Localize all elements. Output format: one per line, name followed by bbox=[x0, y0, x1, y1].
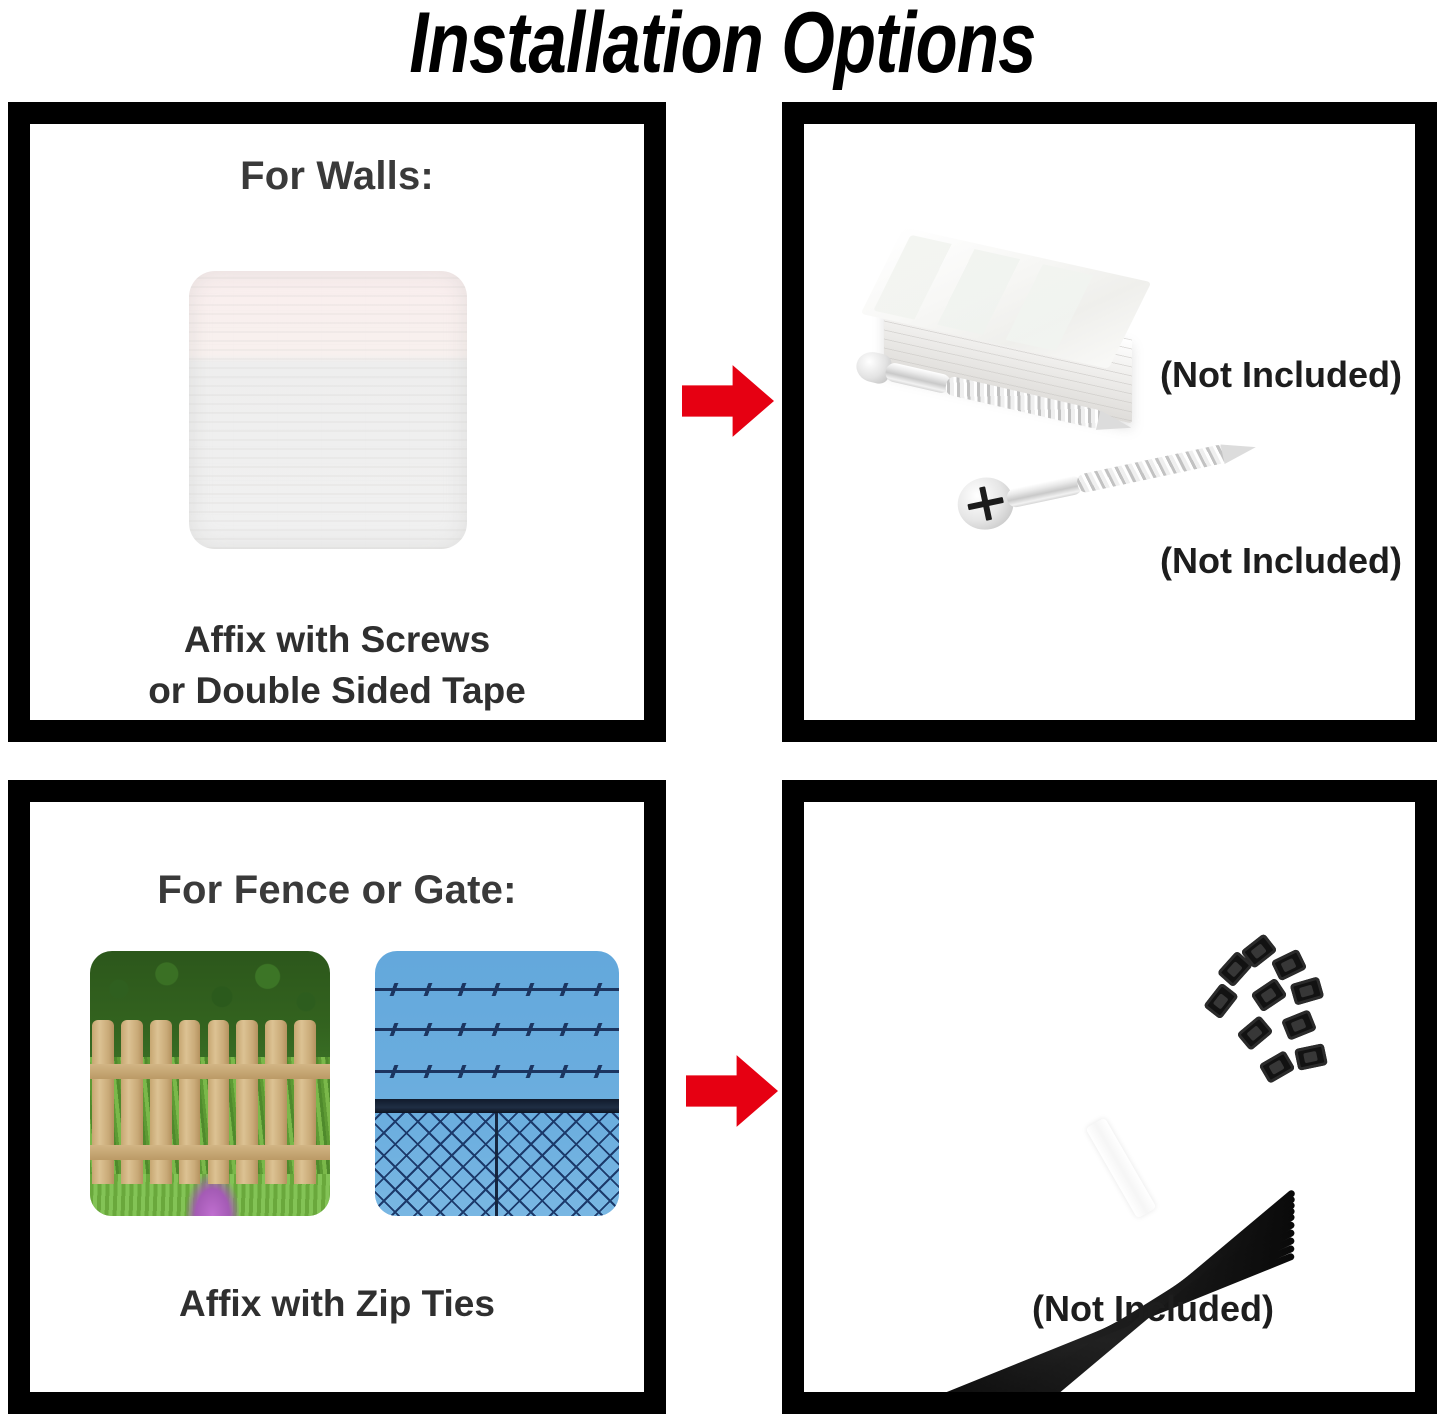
panel-zip-ties: (Not Included) bbox=[782, 780, 1437, 1414]
fence-picket bbox=[265, 1020, 287, 1184]
fence-rail-upper bbox=[90, 1064, 330, 1079]
panel-zip-ties-content: (Not Included) bbox=[804, 802, 1415, 1392]
zip-tie-head-cluster bbox=[1158, 938, 1328, 1098]
fence-picket bbox=[121, 1020, 143, 1184]
fence-picket bbox=[208, 1020, 230, 1184]
barbed-wire-strand bbox=[375, 988, 619, 991]
zip-tie-head bbox=[1259, 1050, 1296, 1084]
zip-tie-head bbox=[1250, 977, 1287, 1012]
for-walls-caption-line1: Affix with Screws bbox=[30, 614, 644, 665]
fence-picket bbox=[92, 1020, 114, 1184]
for-fence-heading: For Fence or Gate: bbox=[30, 868, 644, 913]
screw-tip bbox=[1096, 410, 1134, 437]
arrow-right-red-icon bbox=[686, 1052, 778, 1130]
fence-picket bbox=[236, 1020, 258, 1184]
fence-top-rail bbox=[375, 1099, 619, 1112]
panel-for-fence-or-gate: For Fence or Gate: bbox=[8, 780, 666, 1414]
zip-tie-head bbox=[1236, 1015, 1273, 1051]
screw-thread bbox=[1076, 444, 1229, 494]
zip-tie-bundle-band bbox=[1085, 1117, 1156, 1218]
zip-tie-head bbox=[1271, 949, 1308, 982]
zip-tie-head bbox=[1290, 976, 1325, 1005]
fence-picket bbox=[179, 1020, 201, 1184]
panel-hardware: (Not Included) (Not Included) bbox=[782, 102, 1437, 742]
fence-post bbox=[495, 1113, 498, 1216]
for-walls-caption-line2: or Double Sided Tape bbox=[30, 665, 644, 716]
page-title: Installation Options bbox=[145, 0, 1301, 93]
screws-not-included-label: (Not Included) bbox=[1160, 540, 1402, 582]
zip-tie-head bbox=[1281, 1009, 1317, 1041]
picket-row bbox=[90, 1020, 330, 1184]
white-brick-wall-swatch-icon bbox=[189, 271, 467, 549]
barbed-wire-strand bbox=[375, 1028, 619, 1031]
panel-for-walls-content: For Walls: Affix with Screws or Double S… bbox=[30, 124, 644, 720]
fence-rail-lower bbox=[90, 1145, 330, 1160]
wooden-picket-fence-thumbnail bbox=[90, 951, 330, 1216]
zip-tie-head bbox=[1294, 1043, 1328, 1071]
tape-not-included-label: (Not Included) bbox=[1160, 354, 1402, 396]
screw-shank bbox=[884, 361, 953, 394]
screw-tip bbox=[1220, 437, 1257, 464]
panel-for-walls: For Walls: Affix with Screws or Double S… bbox=[8, 102, 666, 742]
screw-thread bbox=[944, 375, 1104, 430]
zip-tie-head bbox=[1203, 982, 1239, 1019]
panel-for-fence-content: For Fence or Gate: bbox=[30, 802, 644, 1392]
zip-ties-not-included-label: (Not Included) bbox=[1032, 1288, 1274, 1330]
black-zip-tie-bundle-icon bbox=[864, 920, 1334, 1320]
fence-picket bbox=[294, 1020, 316, 1184]
panel-hardware-content: (Not Included) (Not Included) bbox=[804, 124, 1415, 720]
screw-shank bbox=[1005, 474, 1083, 508]
fence-picket bbox=[150, 1020, 172, 1184]
arrow-right-red-icon bbox=[682, 362, 774, 440]
chain-link-barbed-wire-fence-thumbnail bbox=[375, 951, 619, 1216]
barbed-wire-strand bbox=[375, 1070, 619, 1073]
for-walls-heading: For Walls: bbox=[30, 154, 644, 199]
for-fence-caption: Affix with Zip Ties bbox=[30, 1278, 644, 1329]
